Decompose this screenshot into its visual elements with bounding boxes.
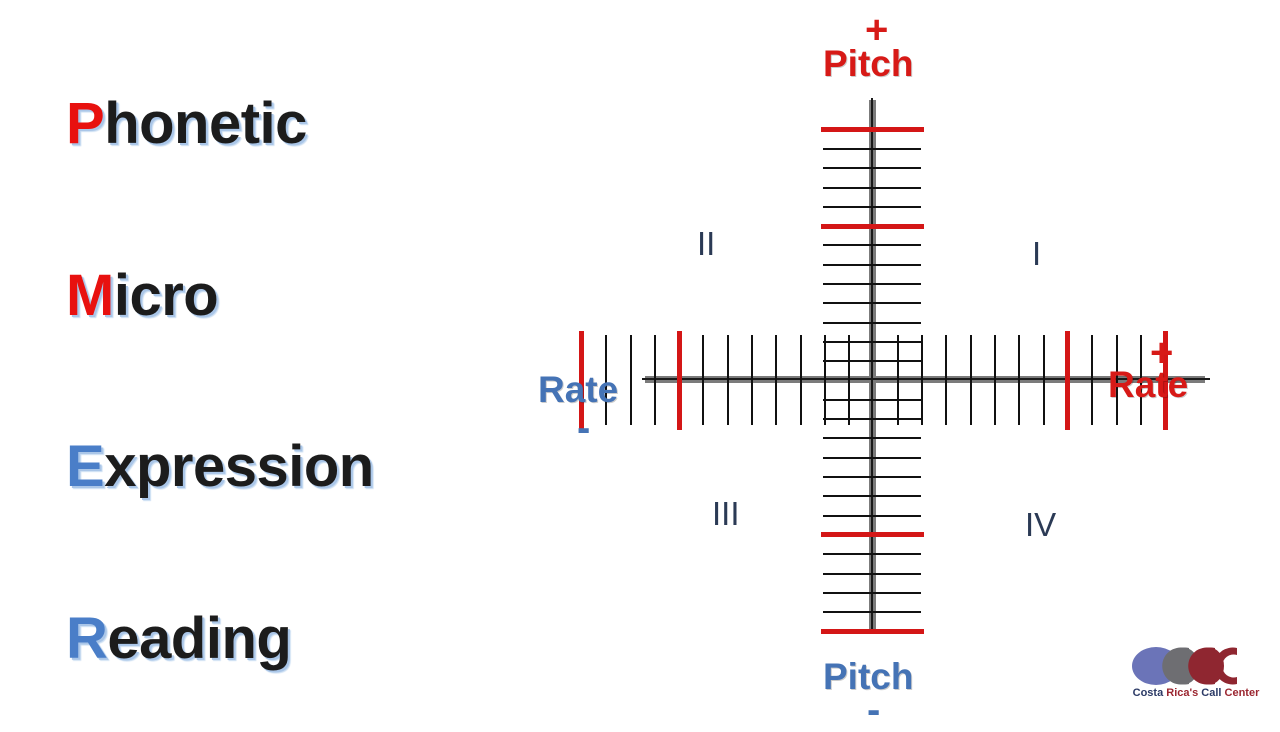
rate-tick-minor (970, 335, 972, 425)
rate-tick-minor (630, 335, 632, 425)
pitch-tick-minor (823, 495, 921, 497)
acronym-rest-micro: icro (114, 263, 218, 328)
quadrant-label-4: IV (1025, 508, 1056, 541)
pitch-rate-quadrant-chart: + Pitch Pitch - Rate - + Rate I II III I… (520, 0, 1240, 720)
rate-tick-minor (800, 335, 802, 425)
pitch-tick-minor (823, 360, 921, 362)
pitch-tick-minor (823, 418, 921, 420)
pitch-negative-sign: - (867, 690, 880, 730)
pitch-tick-minor (823, 206, 921, 208)
pitch-tick-minor (823, 611, 921, 613)
costa-ricas-call-center-logo: Costa Rica's Call Center (1113, 644, 1268, 710)
rate-tick-minor (848, 335, 850, 425)
pitch-tick-minor (823, 399, 921, 401)
rate-negative-sign: - (577, 408, 590, 448)
acronym-rest-phonetic: honetic (104, 91, 307, 156)
rate-tick-minor (751, 335, 753, 425)
pitch-tick-minor (823, 302, 921, 304)
pitch-tick-minor (823, 167, 921, 169)
logo-c-marks-icon (1113, 644, 1268, 688)
pitch-tick-minor (823, 457, 921, 459)
pitch-positive-label: Pitch (823, 45, 913, 82)
rate-tick-major (677, 331, 682, 430)
acronym-item-micro: Micro (66, 267, 218, 325)
rate-tick-minor (727, 335, 729, 425)
pitch-tick-minor (823, 592, 921, 594)
acronym-item-expression: Expression (66, 438, 374, 496)
pitch-tick-major (821, 127, 924, 132)
rate-tick-major (1065, 331, 1070, 430)
pitch-tick-minor (823, 476, 921, 478)
rate-tick-minor (775, 335, 777, 425)
logo-word-call: Call (1201, 687, 1221, 699)
rate-tick-minor (824, 335, 826, 425)
pitch-tick-minor (823, 573, 921, 575)
rate-tick-minor (654, 335, 656, 425)
acronym-initial-m: M (66, 263, 114, 328)
rate-negative-label: Rate (538, 371, 618, 408)
rate-tick-minor (921, 335, 923, 425)
pitch-tick-minor (823, 244, 921, 246)
acronym-initial-e: E (66, 434, 104, 499)
logo-word-center: Center (1225, 687, 1260, 699)
acronym-initial-r: R (66, 606, 107, 671)
pitch-tick-minor (823, 553, 921, 555)
rate-tick-minor (994, 335, 996, 425)
rate-tick-minor (945, 335, 947, 425)
pitch-tick-minor (823, 264, 921, 266)
quadrant-label-2: II (697, 227, 715, 260)
rate-tick-minor (897, 335, 899, 425)
rate-tick-minor (1091, 335, 1093, 425)
acronym-list: Phonetic Micro Expression Reading (0, 0, 500, 720)
pitch-tick-minor (823, 437, 921, 439)
acronym-item-reading: Reading (66, 610, 291, 668)
quadrant-label-1: I (1032, 237, 1041, 270)
rate-tick-minor (1043, 335, 1045, 425)
pitch-tick-major (821, 224, 924, 229)
logo-tagline: Costa Rica's Call Center (1121, 688, 1271, 699)
acronym-initial-p: P (66, 91, 104, 156)
pitch-tick-minor (823, 515, 921, 517)
pitch-tick-major (821, 629, 924, 634)
quadrant-label-3: III (712, 497, 740, 530)
pitch-tick-minor (823, 187, 921, 189)
acronym-rest-reading: eading (107, 606, 291, 671)
logo-word-costa: Costa (1133, 687, 1164, 699)
logo-word-ricas: Rica's (1166, 687, 1198, 699)
pitch-tick-minor (823, 148, 921, 150)
pitch-tick-minor (823, 341, 921, 343)
acronym-item-phonetic: Phonetic (66, 95, 307, 153)
pitch-tick-major (821, 532, 924, 537)
pitch-tick-minor (823, 322, 921, 324)
acronym-rest-expression: xpression (104, 434, 374, 499)
rate-tick-minor (1018, 335, 1020, 425)
pitch-tick-minor (823, 283, 921, 285)
rate-tick-minor (702, 335, 704, 425)
rate-positive-label: Rate (1108, 366, 1188, 403)
